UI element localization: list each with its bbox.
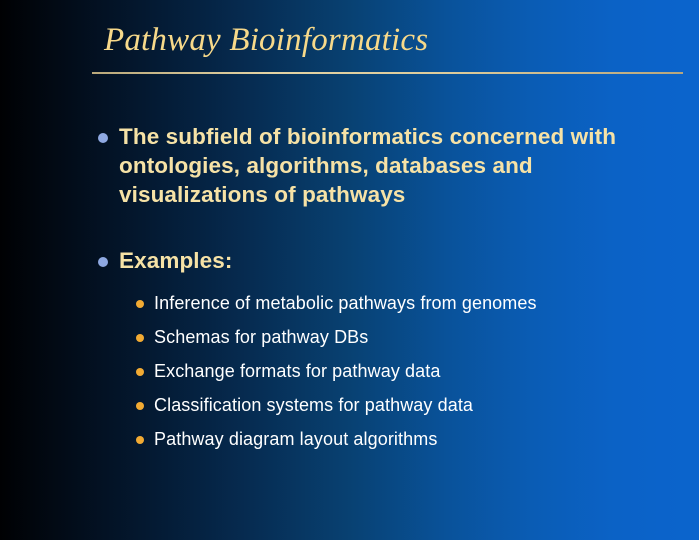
title-divider [92, 72, 683, 74]
sub-bullet-label: Classification systems for pathway data [154, 393, 473, 417]
bullet-dot-icon [98, 257, 108, 267]
sub-bullet-dot-icon [136, 368, 144, 376]
list-item: Schemas for pathway DBs [136, 325, 699, 359]
list-item: Inference of metabolic pathways from gen… [136, 291, 699, 325]
sub-bullet-label: Schemas for pathway DBs [154, 325, 368, 349]
main-bullet-item: Examples: [0, 246, 699, 275]
sub-bullet-dot-icon [136, 334, 144, 342]
sub-bullet-dot-icon [136, 300, 144, 308]
list-item: Classification systems for pathway data [136, 393, 699, 427]
bullet-dot-icon [98, 133, 108, 143]
sub-bullet-dot-icon [136, 402, 144, 410]
sub-bullet-dot-icon [136, 436, 144, 444]
main-bullet-label: Examples: [119, 246, 232, 275]
sub-bullet-list: Inference of metabolic pathways from gen… [0, 291, 699, 461]
slide-body: The subfield of bioinformatics concerned… [0, 122, 699, 461]
main-bullet-item: The subfield of bioinformatics concerned… [0, 122, 699, 209]
main-bullet-label: The subfield of bioinformatics concerned… [119, 122, 649, 209]
sub-bullet-label: Pathway diagram layout algorithms [154, 427, 437, 451]
presentation-slide: Pathway Bioinformatics The subfield of b… [0, 0, 699, 540]
list-item: Exchange formats for pathway data [136, 359, 699, 393]
list-item: Pathway diagram layout algorithms [136, 427, 699, 461]
sub-bullet-label: Exchange formats for pathway data [154, 359, 440, 383]
slide-title-block: Pathway Bioinformatics [92, 22, 683, 74]
page-title: Pathway Bioinformatics [92, 22, 683, 58]
sub-bullet-label: Inference of metabolic pathways from gen… [154, 291, 537, 315]
